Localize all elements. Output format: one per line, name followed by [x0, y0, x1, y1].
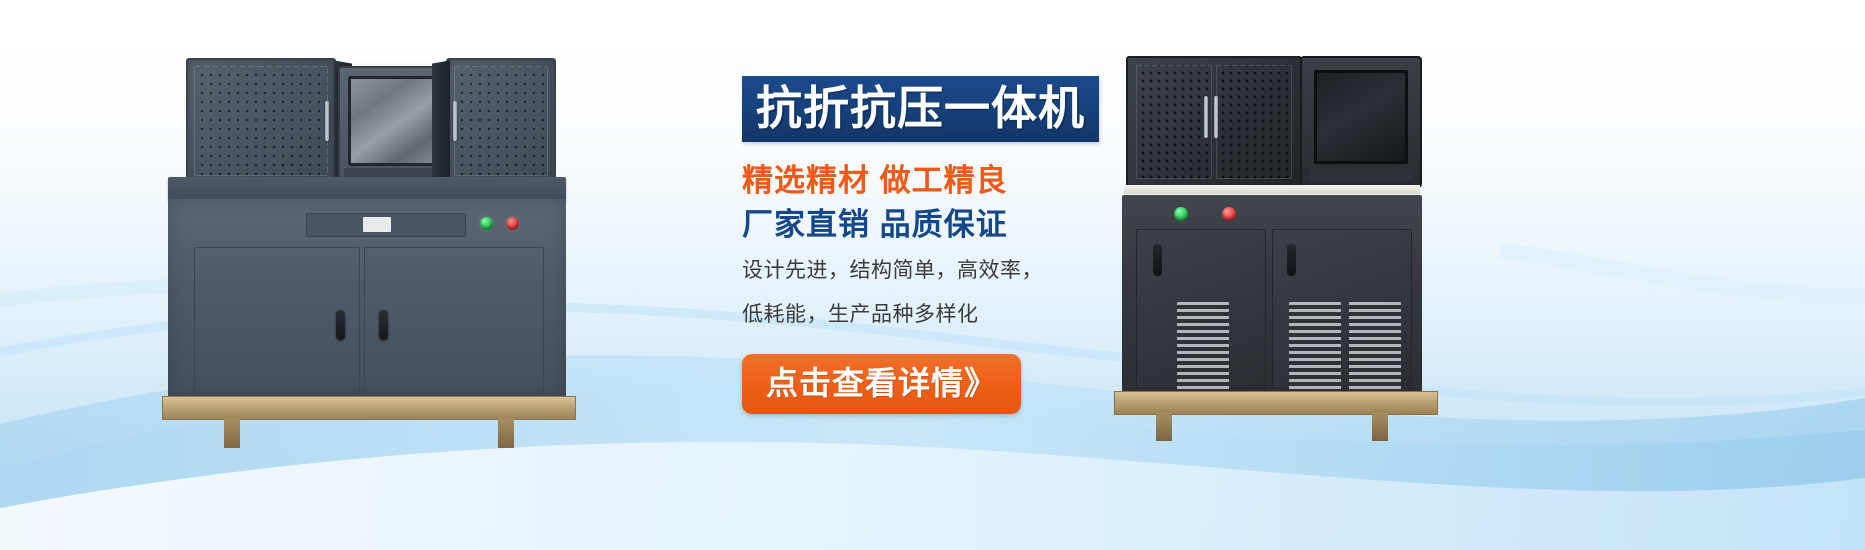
base-cabinet-door-left [194, 247, 360, 395]
banner-title: 抗折抗压一体机 [756, 83, 1085, 133]
ventilation-louvers [1349, 302, 1401, 402]
cabinet-handle [325, 101, 329, 141]
perforated-door-panel [454, 66, 548, 176]
left-machine-base-cabinet [168, 199, 566, 399]
perforated-door-panel [1136, 65, 1212, 179]
monitor-bezel [1310, 169, 1412, 181]
perforated-door-panel [1216, 65, 1292, 179]
door-handle [1153, 244, 1162, 276]
wooden-pallet [1114, 391, 1438, 415]
product-image-left [168, 44, 588, 434]
product-image-right [1120, 46, 1492, 434]
pallet-leg [1372, 413, 1388, 441]
left-machine-monitor [338, 66, 446, 182]
base-cabinet-door-left [1136, 229, 1266, 389]
perforated-door-panel [194, 66, 328, 176]
green-indicator-button[interactable] [480, 217, 493, 230]
base-cabinet-door-right [364, 247, 544, 395]
view-details-button-label: 点击查看详情》 [766, 364, 997, 402]
cabinet-handle [1204, 96, 1208, 138]
cabinet-handle [453, 101, 457, 141]
door-handle [336, 310, 345, 340]
banner-copy-block: 抗折抗压一体机 精选精材 做工精良 厂家直销 品质保证 设计先进，结构简单，高效… [742, 76, 1142, 414]
view-details-button[interactable]: 点击查看详情》 [742, 354, 1021, 414]
right-machine-monitor [1300, 56, 1422, 188]
banner-description-line-2: 低耗能，生产品种多样化 [742, 298, 1142, 332]
base-cabinet-door-right [1272, 229, 1412, 389]
left-machine-upper-cabinet-left [186, 58, 336, 184]
red-indicator-button[interactable] [506, 217, 519, 230]
pallet-leg [224, 418, 240, 448]
promo-banner: 抗折抗压一体机 精选精材 做工精良 厂家直销 品质保证 设计先进，结构简单，高效… [0, 0, 1865, 550]
ventilation-louvers [1177, 302, 1229, 402]
cabinet-handle [1214, 96, 1218, 138]
right-machine-upper-cabinet [1126, 56, 1302, 188]
banner-subtitle-blue: 厂家直销 品质保证 [742, 206, 1142, 244]
monitor-screen [348, 76, 436, 166]
red-indicator-button[interactable] [1222, 207, 1236, 221]
pallet-leg [498, 418, 514, 448]
wooden-pallet [162, 396, 576, 420]
left-machine-shelf [168, 177, 566, 201]
monitor-screen [1314, 70, 1408, 164]
banner-title-bar: 抗折抗压一体机 [742, 76, 1099, 142]
banner-description-line-1: 设计先进，结构简单，高效率， [742, 254, 1142, 288]
pallet-leg [1156, 413, 1172, 441]
banner-subtitle-orange: 精选精材 做工精良 [742, 162, 1142, 200]
ventilation-louvers [1289, 302, 1341, 402]
panel-label [363, 217, 391, 232]
door-handle [379, 310, 388, 340]
control-panel-slot [306, 213, 466, 237]
cabinet-side-panel [432, 60, 450, 185]
right-machine-base-cabinet [1122, 195, 1422, 393]
green-indicator-button[interactable] [1174, 207, 1188, 221]
right-machine-trim-strip [1124, 185, 1420, 194]
door-handle [1287, 244, 1296, 276]
left-machine-upper-cabinet-right [446, 58, 556, 184]
